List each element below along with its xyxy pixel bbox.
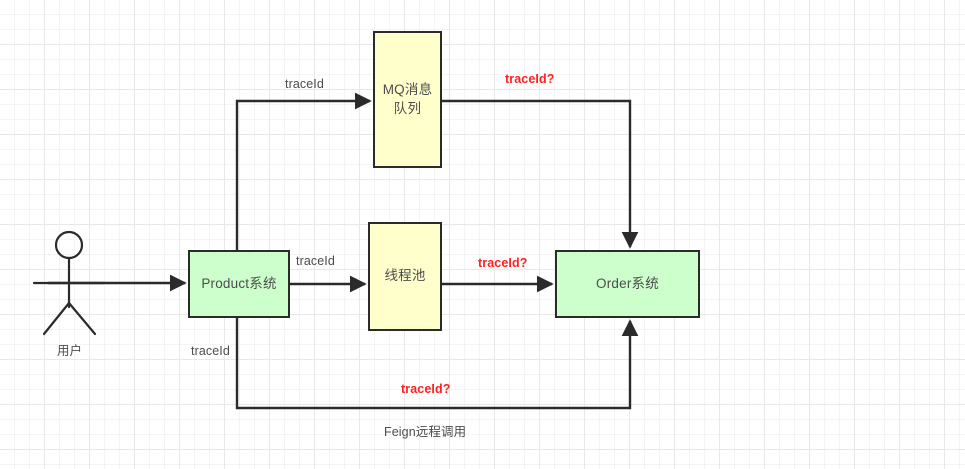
node-threadpool-label: 线程池 [384,267,425,285]
edge-label-to-threadpool: traceId [296,254,335,268]
node-product-label: Product系统 [201,275,276,293]
edge-mq-to-order [442,101,630,247]
edge-label-feign-trace: traceId? [401,382,450,396]
edge-label-product-down: traceId [191,344,230,358]
edge-product-to-mq [237,101,370,250]
node-mq-label: MQ消息 队列 [383,81,433,117]
actor-leg-right [69,303,95,334]
node-mq-label-line2: 队列 [394,101,421,116]
node-product-system[interactable]: Product系统 [188,250,290,318]
user-actor-label: 用户 [57,340,82,359]
edge-label-feign-caption: Feign远程调用 [384,421,466,440]
edge-label-mq-to-order: traceId? [505,72,554,86]
node-thread-pool[interactable]: 线程池 [368,222,442,331]
node-mq-message-queue[interactable]: MQ消息 队列 [373,31,442,168]
node-order-label: Order系统 [596,275,659,293]
edge-label-threadpool-to-order: traceId? [478,256,527,270]
user-actor-figure [34,232,104,334]
edge-label-to-mq: traceId [285,77,324,91]
node-mq-label-line1: MQ消息 [383,82,433,97]
diagram-canvas: Product系统 MQ消息 队列 线程池 Order系统 用户 traceId… [0,0,965,469]
node-order-system[interactable]: Order系统 [555,250,700,318]
diagram-connectors [0,0,965,469]
actor-leg-left [44,303,69,334]
actor-head-icon [56,232,82,258]
